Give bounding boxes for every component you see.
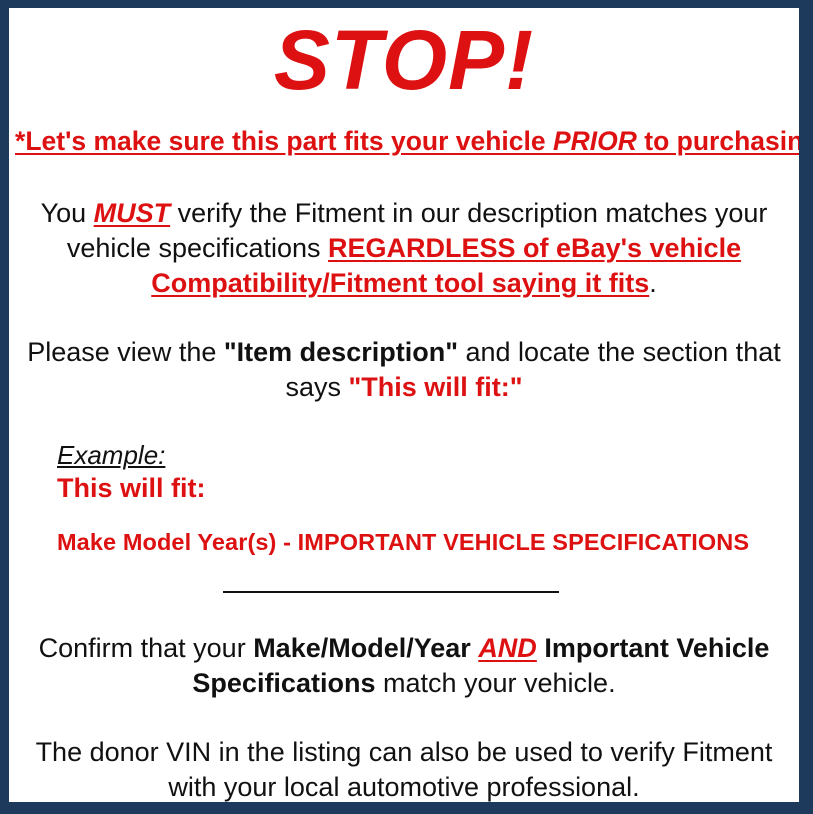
spacer [9,112,799,124]
spacer [9,557,799,583]
example-block: Example: This will fit: Make Model Year(… [9,439,799,557]
example-label: Example: [57,439,165,471]
spacer [9,405,799,439]
notice-card: STOP! *Let's make sure this part fits yo… [9,8,799,802]
spacer [9,158,799,196]
divider-wrap [9,591,799,593]
spacer [57,505,799,527]
example-spec-line: Make Model Year(s) - IMPORTANT VEHICLE S… [57,527,799,557]
subtitle-text-before: *Let's make sure this part fits your veh… [15,126,553,156]
subtitle: *Let's make sure this part fits your veh… [9,124,799,158]
must-text-1: You [41,198,94,228]
confirm-text-1: Confirm that your [39,633,254,663]
emphasis-make-model-year: Make/Model/Year [253,633,471,663]
desc-text-1: Please view the [27,337,224,367]
emphasis-and: AND [478,633,537,663]
spacer [9,701,799,735]
emphasis-this-will-fit: "This will fit:" [348,372,522,402]
emphasis-must: MUST [94,198,171,228]
section-divider [223,591,559,593]
example-fit-heading: This will fit: [57,471,799,505]
paragraph-must-verify: You MUST verify the Fitment in our descr… [9,196,799,301]
page-title: STOP! [9,8,799,112]
paragraph-donor-vin: The donor VIN in the listing can also be… [9,735,799,802]
paragraph-item-description: Please view the "Item description" and l… [9,335,799,405]
spacer [9,601,799,631]
must-text-3: . [649,268,657,298]
emphasis-item-description: "Item description" [224,337,458,367]
paragraph-confirm: Confirm that your Make/Model/Year AND Im… [9,631,799,701]
fitment-notice-frame: STOP! *Let's make sure this part fits yo… [0,0,813,814]
confirm-text-4: match your vehicle. [375,668,615,698]
spacer [9,301,799,335]
subtitle-emphasis-prior: PRIOR [553,126,637,156]
subtitle-text-after: to purchasing* [637,126,799,156]
example-label-row: Example: [57,439,799,471]
